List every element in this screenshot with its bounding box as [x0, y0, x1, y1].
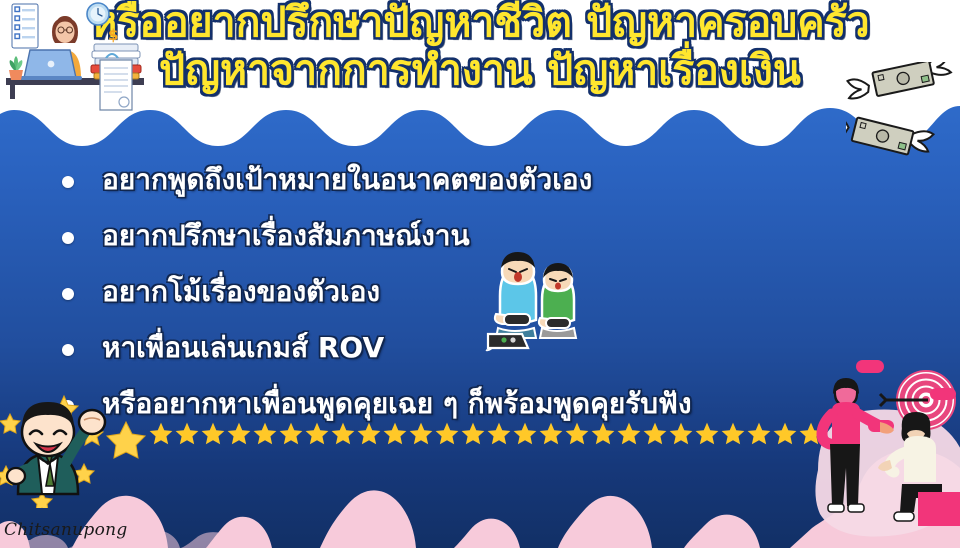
headline-block: หรืออยากปรึกษาปัญหาชีวิต ปัญหาครอบครัว ป… — [0, 2, 960, 92]
star-icon — [460, 421, 486, 447]
star-icon — [486, 421, 512, 447]
star-icon — [616, 421, 642, 447]
star-icon — [356, 421, 382, 447]
bullet-dot-icon — [62, 344, 74, 356]
headline-line-2: ปัญหาจากการทำงาน ปัญหาเรื่องเงิน — [0, 50, 960, 92]
bullet-dot-icon — [62, 176, 74, 188]
star-icon — [408, 421, 434, 447]
star-icon — [694, 421, 720, 447]
star-icon — [200, 421, 226, 447]
bullet-dot-icon — [62, 288, 74, 300]
star-icon — [798, 421, 824, 447]
star-divider-row — [148, 415, 816, 453]
bullet-item-label: อยากพูดถึงเป้าหมายในอนาคตของตัวเอง — [102, 160, 592, 200]
star-icon — [746, 421, 772, 447]
star-icon — [720, 421, 746, 447]
star-icon — [174, 421, 200, 447]
star-icon — [278, 421, 304, 447]
watermark-text: Chitsanupong — [4, 520, 128, 540]
poster-canvas: หรืออยากปรึกษาปัญหาชีวิต ปัญหาครอบครัว ป… — [0, 0, 960, 548]
list-item: อยากพูดถึงเป้าหมายในอนาคตของตัวเอง — [62, 160, 902, 202]
list-item: หาเพื่อนเล่นเกมส์ ROV — [62, 328, 902, 370]
bullet-item-label: อยากโม้เรื่องของตัวเอง — [102, 272, 380, 312]
star-icon — [148, 421, 174, 447]
bullet-dot-icon — [62, 232, 74, 244]
star-icon — [252, 421, 278, 447]
bullet-list: อยากพูดถึงเป้าหมายในอนาคตของตัวเอง อยากป… — [62, 160, 902, 440]
bullet-dot-icon — [62, 400, 74, 412]
star-icon — [642, 421, 668, 447]
star-icon — [330, 421, 356, 447]
star-icon — [668, 421, 694, 447]
bullet-item-label: หาเพื่อนเล่นเกมส์ ROV — [102, 328, 384, 368]
bullet-item-label: อยากปรึกษาเรื่องสัมภาษณ์งาน — [102, 216, 470, 256]
list-item: อยากปรึกษาเรื่องสัมภาษณ์งาน — [62, 216, 902, 258]
star-icon — [772, 421, 798, 447]
headline-line-1: หรืออยากปรึกษาปัญหาชีวิต ปัญหาครอบครัว — [0, 2, 960, 44]
star-icon — [382, 421, 408, 447]
star-icon — [512, 421, 538, 447]
star-icon — [434, 421, 460, 447]
star-icon — [590, 421, 616, 447]
star-icon — [538, 421, 564, 447]
star-icon — [564, 421, 590, 447]
star-icon — [304, 421, 330, 447]
star-icon — [226, 421, 252, 447]
list-item: อยากโม้เรื่องของตัวเอง — [62, 272, 902, 314]
